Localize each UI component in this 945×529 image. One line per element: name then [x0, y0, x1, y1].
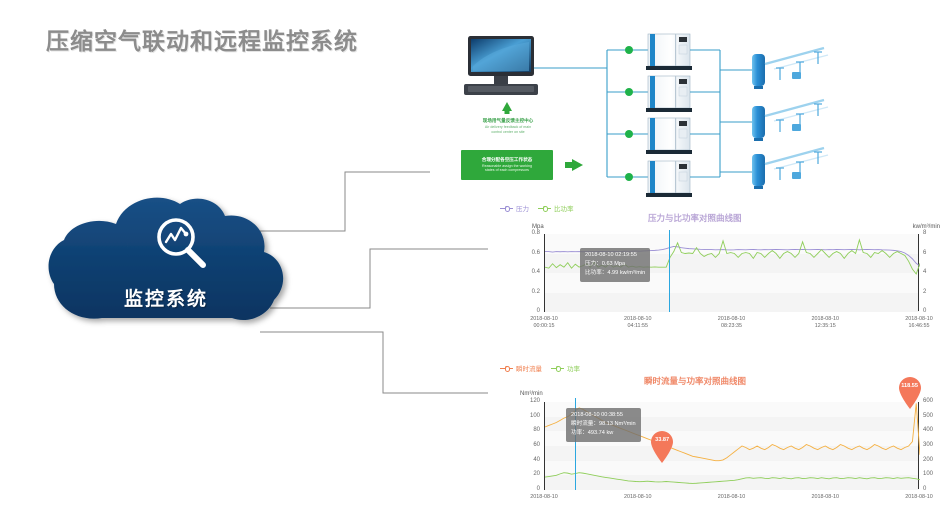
compressor-unit: [646, 76, 692, 112]
y-axis-tick-right: 300: [923, 442, 933, 448]
chart-marker-pin[interactable]: 33.87: [649, 429, 675, 463]
y-axis-tick-right: 0: [923, 486, 926, 492]
arrow-right-icon: [565, 159, 583, 171]
system-diagram-panel[interactable]: 现场用气量反馈主控中心 Air delivery feedback of mai…: [452, 22, 942, 202]
y-axis-tick-left: 0.2: [518, 289, 540, 295]
x-tick-date: 2018-08-10: [518, 494, 570, 501]
arrow-up-icon: [502, 102, 512, 114]
pin-shape-icon: [897, 375, 923, 409]
x-tick-date: 2018-08-10: [799, 494, 851, 501]
chart-tooltip: 2018-08-10 02:19:55压力：0.63 Mpa比功率：4.99 k…: [580, 248, 650, 282]
x-tick-date: 2018-08-10: [893, 316, 945, 323]
pin-label: 33.87: [649, 437, 675, 443]
y-axis-tick-left: 0: [518, 486, 540, 492]
slide-root: 压缩空气联动和远程监控系统: [0, 0, 945, 529]
pin-shape-icon: [649, 429, 675, 463]
caption-en-2: control center on site: [456, 130, 560, 135]
chart-marker-pin[interactable]: 118.55: [897, 375, 923, 409]
chart-title: 瞬时流量与功率对照曲线图: [644, 375, 746, 387]
legend-item[interactable]: 比功率: [538, 203, 574, 213]
y-axis-tick-left: 40: [518, 457, 540, 463]
monitoring-system-cloud[interactable]: 监控系统: [32, 186, 300, 341]
y-axis-tick-right: 8: [923, 230, 926, 236]
flow-power-chart-panel[interactable]: 瞬时流量功率 瞬时流量与功率对照曲线图 Nm³/min 120100806040…: [488, 360, 942, 525]
desktop-computer-icon: [464, 36, 538, 95]
y-axis-tick-left: 100: [518, 413, 540, 419]
legend-marker-icon: [551, 365, 564, 372]
green-status-box: 合理分配各空压工作状态 Reasonable assign the workin…: [461, 150, 553, 180]
y-axis-unit-left: Nm³/min: [520, 391, 543, 397]
main-control-center-caption: 现场用气量反馈主控中心 Air delivery feedback of mai…: [456, 118, 560, 134]
x-tick-time: 08:23:35: [706, 323, 758, 330]
x-axis-tick: 2018-08-10: [893, 494, 945, 501]
legend-item[interactable]: 压力: [500, 203, 529, 213]
y-axis-tick-left: 0.8: [518, 230, 540, 236]
x-tick-date: 2018-08-10: [706, 494, 758, 501]
outlet-collector-lines: [690, 50, 752, 177]
pin-label: 118.55: [897, 383, 923, 389]
legend-label: 比功率: [554, 203, 574, 213]
compressor-branch-lines: [607, 50, 648, 177]
compressor-unit: [646, 161, 692, 197]
legend-marker-icon: [500, 205, 513, 212]
tooltip-line-3: 比功率：4.99 kw/m³/min: [585, 269, 645, 278]
x-axis-tick: 2018-08-1012:35:15: [799, 316, 851, 331]
green-box-cn: 合理分配各空压工作状态: [482, 157, 533, 164]
magnifier-chart-icon: [150, 214, 214, 274]
x-tick-date: 2018-08-10: [706, 316, 758, 323]
tooltip-line-1: 2018-08-10 02:19:55: [585, 251, 645, 260]
chart-tooltip: 2018-08-10 00:38:55瞬时流量：98.13 Nm³/min功率：…: [566, 408, 641, 442]
x-axis-tick: 2018-08-1008:23:35: [706, 316, 758, 331]
x-tick-time: 00:00:15: [518, 323, 570, 330]
x-tick-date: 2018-08-10: [893, 494, 945, 501]
x-tick-time: 12:35:15: [799, 323, 851, 330]
y-axis-tick-right: 2: [923, 289, 926, 295]
cloud-label: 监控系统: [32, 284, 300, 311]
y-axis-tick-right: 4: [923, 269, 926, 275]
x-tick-date: 2018-08-10: [518, 316, 570, 323]
y-axis-tick-right: 500: [923, 413, 933, 419]
y-axis-tick-left: 120: [518, 398, 540, 404]
tooltip-line-3: 功率：493.74 kw: [571, 429, 636, 438]
y-axis-tick-left: 0.6: [518, 250, 540, 256]
legend-marker-icon: [538, 205, 551, 212]
y-axis-tick-right: 400: [923, 427, 933, 433]
tooltip-line-2: 瞬时流量：98.13 Nm³/min: [571, 420, 636, 429]
y-axis-tick-left: 20: [518, 471, 540, 477]
tooltip-line-2: 压力：0.63 Mpa: [585, 260, 645, 269]
y-axis-tick-right: 100: [923, 471, 933, 477]
compressor-unit: [646, 34, 692, 70]
y-axis-tick-right: 200: [923, 457, 933, 463]
air-tank-and-pipeline: [752, 148, 828, 189]
y-axis-tick-left: 80: [518, 427, 540, 433]
x-axis-tick: 2018-08-10: [706, 494, 758, 501]
y-axis-tick-right: 600: [923, 398, 933, 404]
caption-cn: 现场用气量反馈主控中心: [456, 118, 560, 125]
compressor-node-dots: [625, 46, 633, 181]
chart-legend[interactable]: 压力比功率: [500, 203, 574, 213]
y-axis-tick-left: 0.4: [518, 269, 540, 275]
x-tick-date: 2018-08-10: [612, 316, 664, 323]
legend-label: 压力: [516, 203, 529, 213]
legend-label: 瞬时流量: [516, 363, 542, 373]
y-axis-tick-left: 60: [518, 442, 540, 448]
y-axis-tick-right: 6: [923, 250, 926, 256]
x-tick-time: 16:46:55: [893, 323, 945, 330]
chart-cursor-line[interactable]: [669, 230, 670, 312]
y-axis-tick-right: 0: [923, 308, 926, 314]
pressure-power-chart-panel[interactable]: 压力比功率 压力与比功率对照曲线图 Mpa kw/m³/min 0.80.60.…: [488, 200, 942, 335]
air-tank-and-pipeline: [752, 48, 828, 89]
chart-legend[interactable]: 瞬时流量功率: [500, 363, 580, 373]
legend-marker-icon: [500, 365, 513, 372]
x-axis-tick: 2018-08-10: [612, 494, 664, 501]
chart-series-line: [545, 473, 920, 484]
x-axis-tick: 2018-08-10: [799, 494, 851, 501]
x-axis-tick: 2018-08-1016:46:55: [893, 316, 945, 331]
green-box-en-2: states of each compressors: [485, 168, 529, 173]
x-tick-time: 04:11:55: [612, 323, 664, 330]
x-tick-date: 2018-08-10: [612, 494, 664, 501]
chart-title: 压力与比功率对照曲线图: [648, 212, 742, 224]
x-tick-date: 2018-08-10: [799, 316, 851, 323]
legend-item[interactable]: 瞬时流量: [500, 363, 542, 373]
legend-item[interactable]: 功率: [551, 363, 580, 373]
legend-label: 功率: [567, 363, 580, 373]
y-axis-tick-left: 0: [518, 308, 540, 314]
tooltip-line-1: 2018-08-10 00:38:55: [571, 411, 636, 420]
air-tank-and-pipeline: [752, 100, 828, 141]
x-axis-tick: 2018-08-10: [518, 494, 570, 501]
x-axis-tick: 2018-08-1000:00:15: [518, 316, 570, 331]
compressor-unit: [646, 118, 692, 154]
x-axis-tick: 2018-08-1004:11:55: [612, 316, 664, 331]
